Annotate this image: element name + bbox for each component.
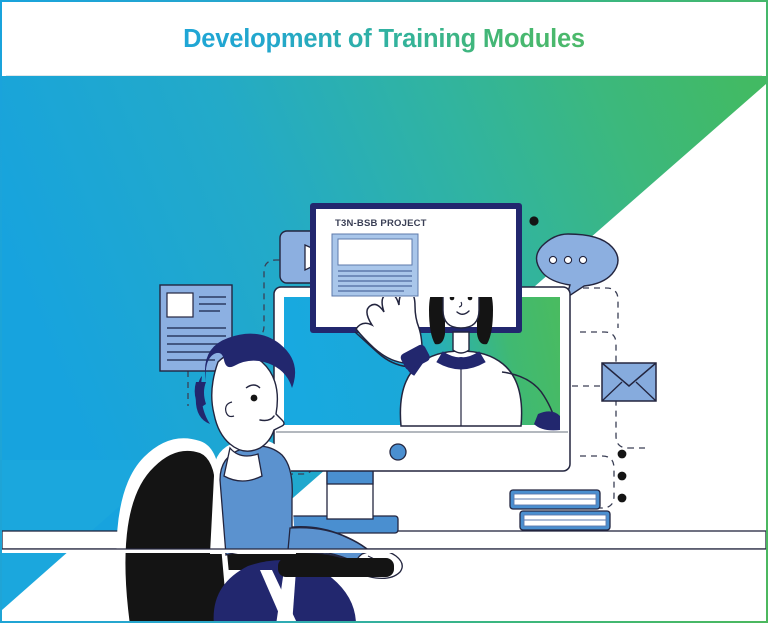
- slide-gradient-frame: Development of Training Modules: [0, 0, 768, 623]
- woman-collar-knot: [455, 357, 467, 369]
- page-title: Development of Training Modules: [183, 25, 585, 54]
- chair-armrest[interactable]: [278, 558, 394, 577]
- monitor-power-indicator[interactable]: [390, 444, 406, 460]
- chat-bubble-dots-icon: [549, 256, 586, 263]
- illustration-stage: T3N-BSB PROJECT: [2, 76, 766, 621]
- mail-envelope-icon[interactable]: [602, 363, 656, 401]
- woman-neck: [453, 332, 469, 353]
- online-training-illustration: T3N-BSB PROJECT: [2, 76, 766, 621]
- document-icon-thumbnail: [167, 293, 193, 317]
- book-lower-pages: [524, 515, 606, 526]
- title-band: Development of Training Modules: [2, 2, 766, 76]
- man-eye: [251, 395, 258, 402]
- document-icon[interactable]: [158, 285, 232, 371]
- mail-envelope-icon-body: [602, 363, 656, 401]
- book-upper-pages: [514, 494, 596, 505]
- slide-canvas: Development of Training Modules: [0, 0, 768, 623]
- screen-slide-heading: T3N-BSB PROJECT: [335, 218, 427, 229]
- screen-slide-image-placeholder: [338, 239, 412, 265]
- slide-inner-surface: Development of Training Modules: [2, 2, 766, 621]
- chair-armrest-pad: [278, 558, 394, 577]
